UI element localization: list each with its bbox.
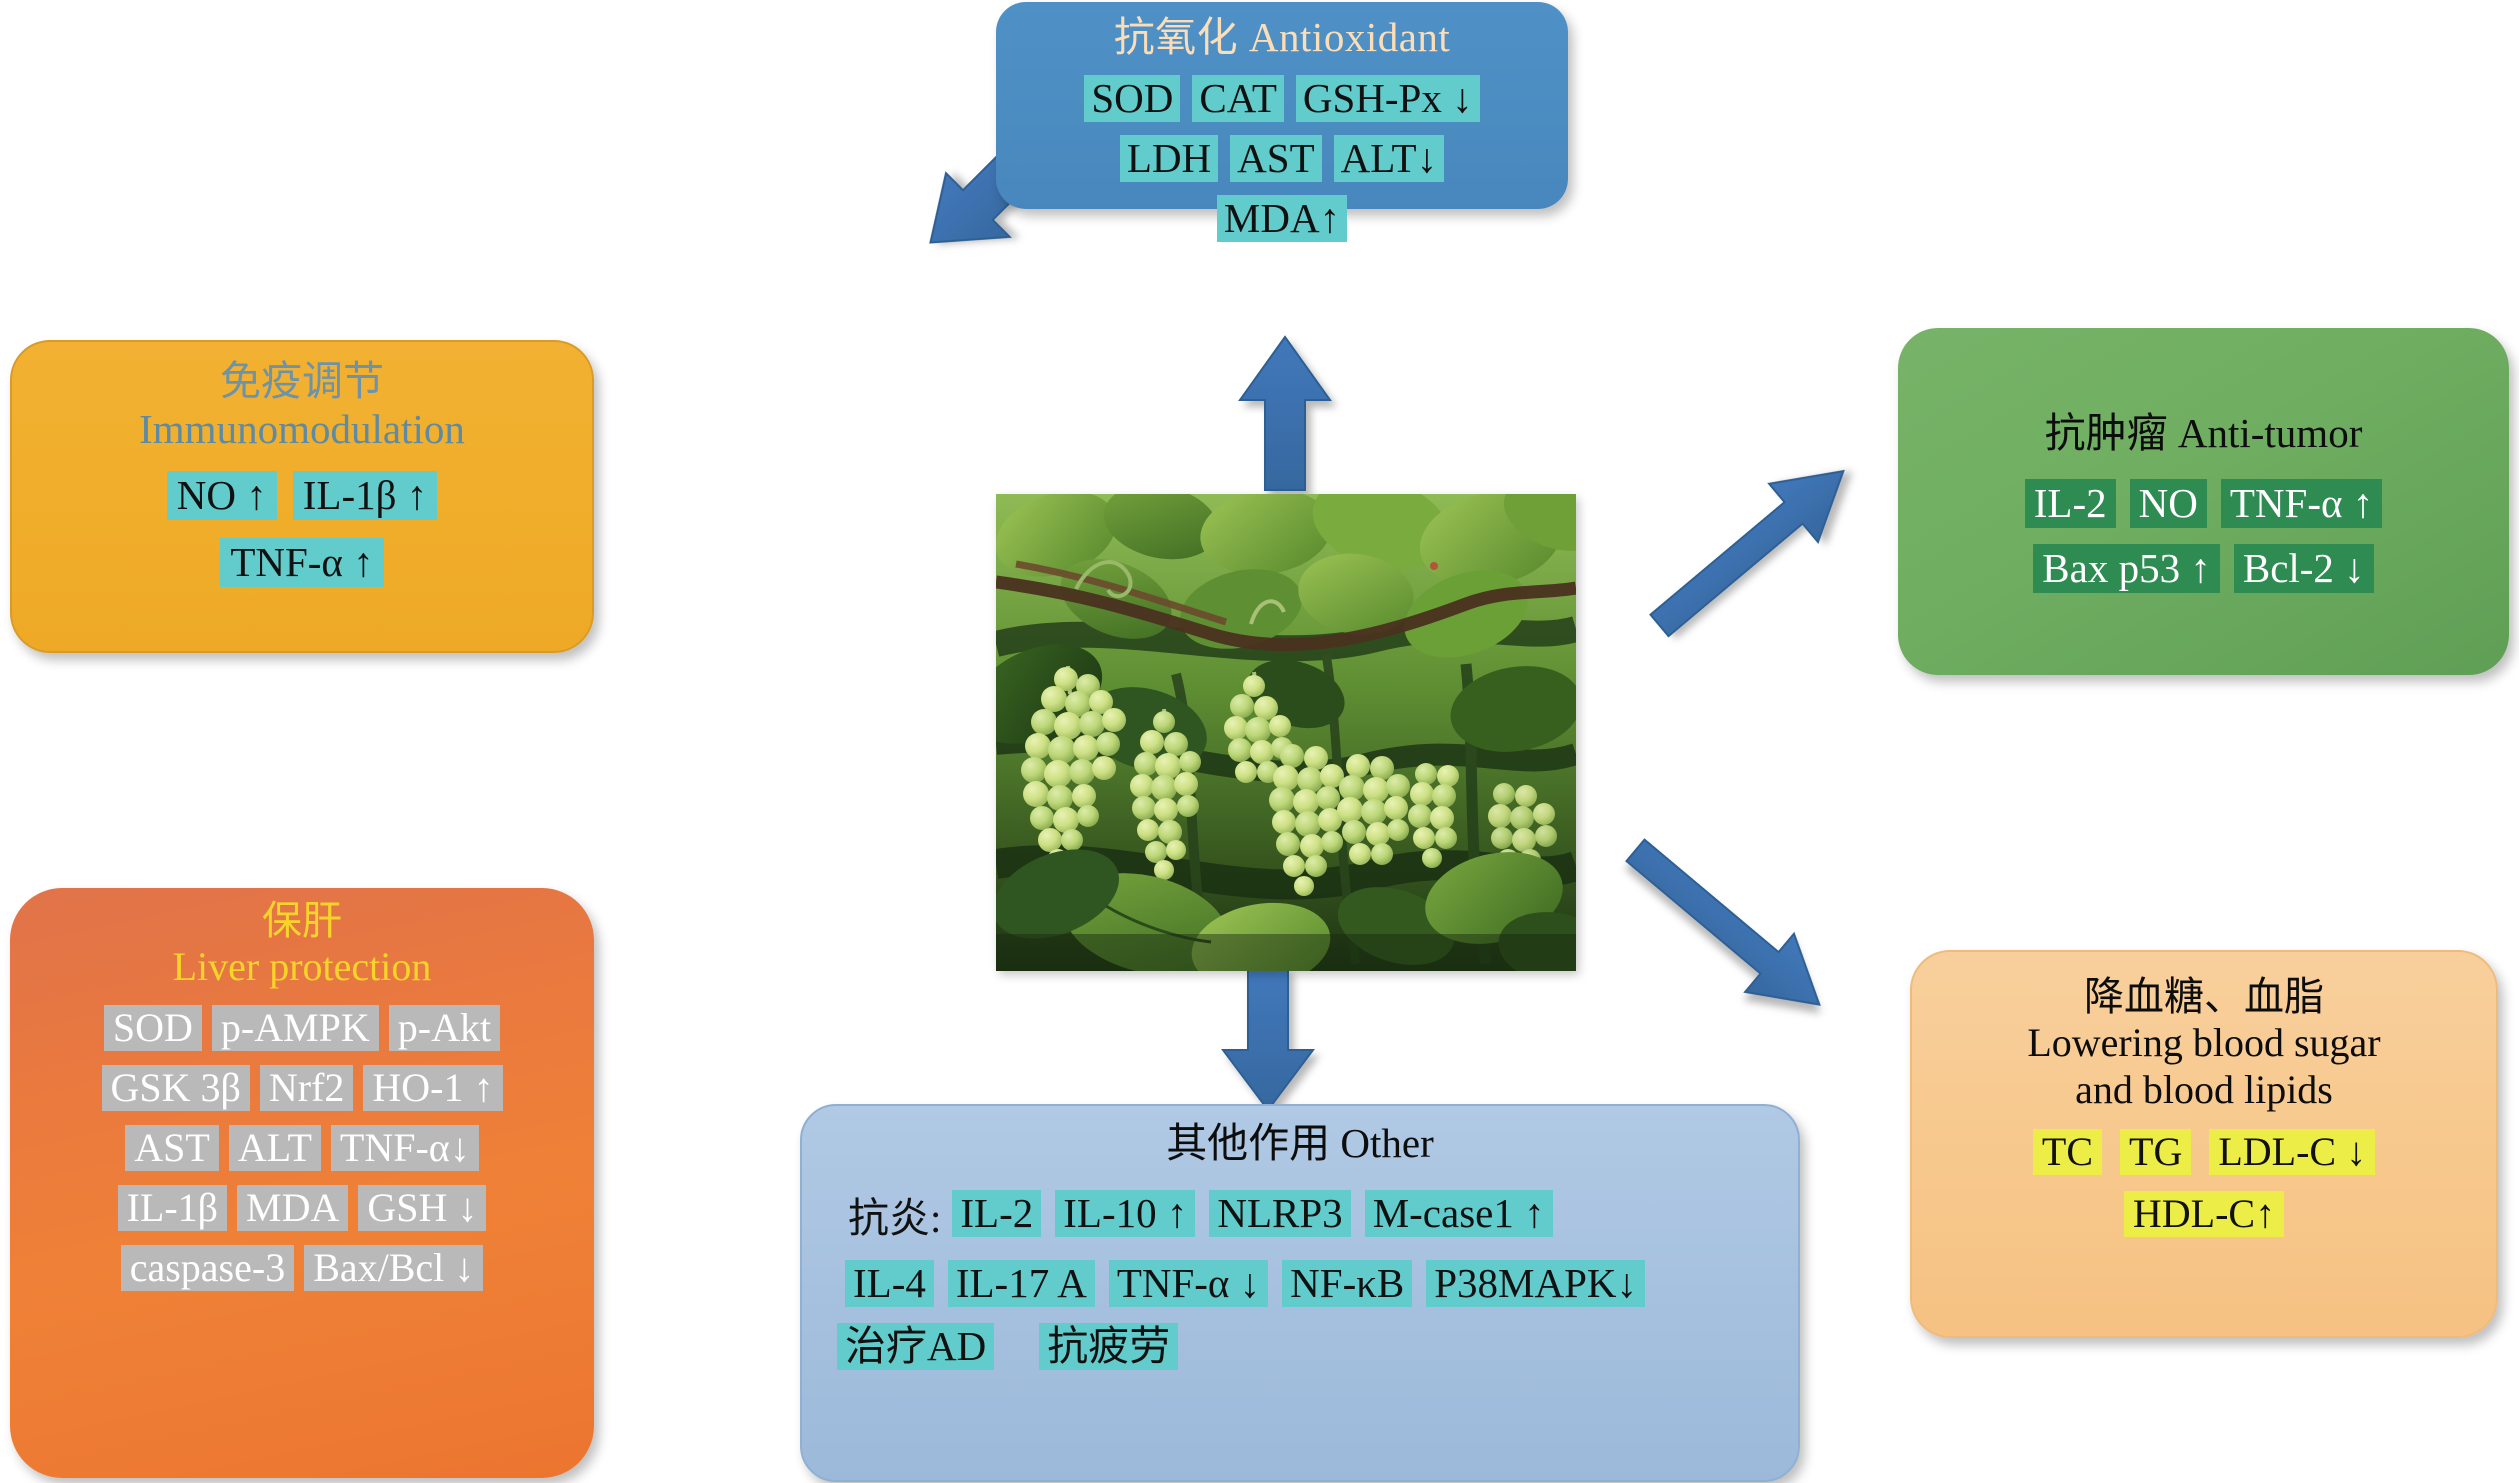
tag-row: IL-1β MDA GSH ↓ [113, 1185, 492, 1231]
tag-nlrp3[interactable]: NLRP3 [1209, 1190, 1350, 1237]
tag-nrf2[interactable]: Nrf2 [260, 1065, 354, 1111]
box-anti-tumor-tags: IL-2 NO TNF-α ↑ Bax p53 ↑ Bcl-2 ↓ [2018, 463, 2389, 593]
tag-ldl-c[interactable]: LDL-C ↓ [2209, 1129, 2375, 1175]
tag-row: SOD p-AMPK p-Akt [99, 1005, 505, 1051]
title-en-l2: and blood lipids [2027, 1067, 2380, 1113]
tag-row: LDH AST ALT↓ [1114, 135, 1450, 182]
tag-bax-bcl[interactable]: Bax/Bcl ↓ [304, 1245, 483, 1291]
arrow-up-antioxidant [1240, 337, 1330, 490]
tag-row: NO ↑ IL-1β ↑ [159, 471, 445, 520]
tag-il-2[interactable]: IL-2 [952, 1190, 1041, 1237]
tag-p38mapk[interactable]: P38MAPK↓ [1426, 1260, 1645, 1307]
tag-tnf-alpha[interactable]: TNF-α ↑ [2221, 479, 2382, 528]
tag-row: HDL-C↑ [2115, 1191, 2293, 1237]
tag-mda[interactable]: MDA [237, 1185, 348, 1231]
tag-ldh[interactable]: LDH [1120, 135, 1218, 182]
tag-row: Bax p53 ↑ Bcl-2 ↓ [2026, 544, 2380, 593]
box-anti-tumor-title: 抗肿瘤 Anti-tumor [2045, 410, 2363, 458]
title-en: Liver protection [173, 944, 432, 990]
tag-row: TNF-α ↑ [212, 538, 391, 587]
box-anti-tumor: 抗肿瘤 Anti-tumor IL-2 NO TNF-α ↑ Bax p53 ↑… [1898, 328, 2509, 675]
tag-alt[interactable]: ALT↓ [1334, 135, 1444, 182]
tag-tg[interactable]: TG [2120, 1129, 2191, 1175]
tag-row: caspase-3 Bax/Bcl ↓ [116, 1245, 489, 1291]
tag-tnf-alpha[interactable]: TNF-α↓ [331, 1125, 479, 1171]
tag-no[interactable]: NO ↑ [167, 471, 277, 520]
tag-ho-1[interactable]: HO-1 ↑ [363, 1065, 502, 1111]
tag-ast[interactable]: AST [1230, 135, 1321, 182]
tag-tnf-alpha[interactable]: TNF-α ↓ [1109, 1260, 1268, 1307]
box-liver-protection: 保肝 Liver protection SOD p-AMPK p-Akt GSK… [10, 888, 594, 1478]
box-lowering-blood-sugar-tags: TC TG LDL-C ↓ HDL-C↑ [2024, 1113, 2384, 1237]
tag-il-10[interactable]: IL-10 ↑ [1055, 1190, 1195, 1237]
tag-mda[interactable]: MDA↑ [1217, 195, 1347, 242]
tag-m-case1[interactable]: M-case1 ↑ [1365, 1190, 1553, 1237]
tag-il-1beta[interactable]: IL-1β [118, 1185, 227, 1231]
tag-ast[interactable]: AST [125, 1125, 219, 1171]
tag-p-akt[interactable]: p-Akt [389, 1005, 500, 1051]
tag-tnf-alpha[interactable]: TNF-α ↑ [220, 538, 383, 587]
box-liver-protection-title: 保肝 Liver protection [173, 898, 432, 991]
tag-row: AST ALT TNF-α↓ [120, 1125, 484, 1171]
tag-caspase-3[interactable]: caspase-3 [121, 1245, 294, 1291]
tag-row: GSK 3β Nrf2 HO-1 ↑ [97, 1065, 508, 1111]
tag-row: SOD CAT GSH-Px ↓ [1078, 75, 1485, 122]
tag-tc[interactable]: TC [2033, 1129, 2102, 1175]
tag-bcl-2[interactable]: Bcl-2 ↓ [2234, 544, 2374, 593]
schisandra-photo [996, 494, 1576, 971]
box-other-tags: 抗炎: IL-2 IL-10 ↑ NLRP3 M-case1 ↑ IL-4 IL… [820, 1168, 1780, 1370]
box-immunomodulation-tags: NO ↑ IL-1β ↑ TNF-α ↑ [159, 453, 445, 587]
tag-il-4[interactable]: IL-4 [845, 1260, 934, 1307]
tag-row: 抗炎: IL-2 IL-10 ↑ NLRP3 M-case1 ↑ [820, 1184, 1780, 1244]
tag-no[interactable]: NO [2130, 479, 2207, 528]
tag-il-17a[interactable]: IL-17 A [948, 1260, 1095, 1307]
arrow-downright-bloodsugar [1611, 821, 1844, 1033]
box-other-effects: 其他作用 Other 抗炎: IL-2 IL-10 ↑ NLRP3 M-case… [800, 1104, 1800, 1482]
arrow-down-other [1223, 968, 1313, 1110]
tag-row: MDA↑ [1211, 195, 1353, 242]
photo-artwork [996, 494, 1576, 971]
tag-alt[interactable]: ALT [229, 1125, 321, 1171]
tag-row: IL-4 IL-17 A TNF-α ↓ NF-κB P38MAPK↓ [820, 1260, 1780, 1307]
tag-hdl-c[interactable]: HDL-C↑ [2124, 1191, 2284, 1237]
box-antioxidant-title: 抗氧化 Antioxidant [1114, 14, 1451, 62]
tag-sod[interactable]: SOD [1084, 75, 1180, 122]
anti-inflammatory-label: 抗炎: [848, 1184, 941, 1244]
box-antioxidant: 抗氧化 Antioxidant SOD CAT GSH-Px ↓ LDH AST… [996, 2, 1568, 209]
title-cn: 保肝 [173, 898, 432, 944]
box-lowering-blood-sugar-title: 降血糖、血脂 Lowering blood sugar and blood li… [2027, 974, 2380, 1113]
tag-gsh[interactable]: GSH ↓ [358, 1185, 486, 1231]
tag-cat[interactable]: CAT [1192, 75, 1283, 122]
box-liver-protection-tags: SOD p-AMPK p-Akt GSK 3β Nrf2 HO-1 ↑ AST … [97, 991, 508, 1291]
tag-gsh-px[interactable]: GSH-Px ↓ [1296, 75, 1480, 122]
tag-row: 治疗AD 抗疲劳 [820, 1323, 1780, 1370]
tag-gsk-3beta[interactable]: GSK 3β [102, 1065, 250, 1111]
tag-sod[interactable]: SOD [104, 1005, 202, 1051]
diagram-canvas: 抗氧化 Antioxidant SOD CAT GSH-Px ↓ LDH AST… [0, 0, 2519, 1483]
tag-p-ampk[interactable]: p-AMPK [212, 1005, 379, 1051]
box-immunomodulation-title: 免疫调节 Immunomodulation [139, 358, 465, 453]
tag-anti-fatigue[interactable]: 抗疲劳 [1039, 1323, 1178, 1370]
title-cn: 降血糖、血脂 [2027, 974, 2380, 1020]
tag-il-2[interactable]: IL-2 [2025, 479, 2116, 528]
title-en-l1: Lowering blood sugar [2027, 1020, 2380, 1066]
box-immunomodulation: 免疫调节 Immunomodulation NO ↑ IL-1β ↑ TNF-α… [10, 340, 594, 653]
box-other-title: 其他作用 Other [1166, 1120, 1434, 1168]
tag-row: IL-2 NO TNF-α ↑ [2018, 479, 2389, 528]
tag-bax-p53[interactable]: Bax p53 ↑ [2033, 544, 2220, 593]
tag-row: TC TG LDL-C ↓ [2024, 1129, 2384, 1175]
tag-nf-kb[interactable]: NF-κB [1282, 1260, 1412, 1307]
title-cn: 免疫调节 [139, 358, 465, 406]
tag-il-1beta[interactable]: IL-1β ↑ [293, 471, 437, 520]
tag-treat-ad[interactable]: 治疗AD [837, 1323, 994, 1370]
box-antioxidant-tags: SOD CAT GSH-Px ↓ LDH AST ALT↓ MDA↑ [1078, 62, 1485, 242]
box-lowering-blood-sugar-lipids: 降血糖、血脂 Lowering blood sugar and blood li… [1910, 950, 2498, 1338]
arrow-upright-antitumor [1635, 442, 1868, 654]
title-en: Immunomodulation [139, 406, 465, 454]
